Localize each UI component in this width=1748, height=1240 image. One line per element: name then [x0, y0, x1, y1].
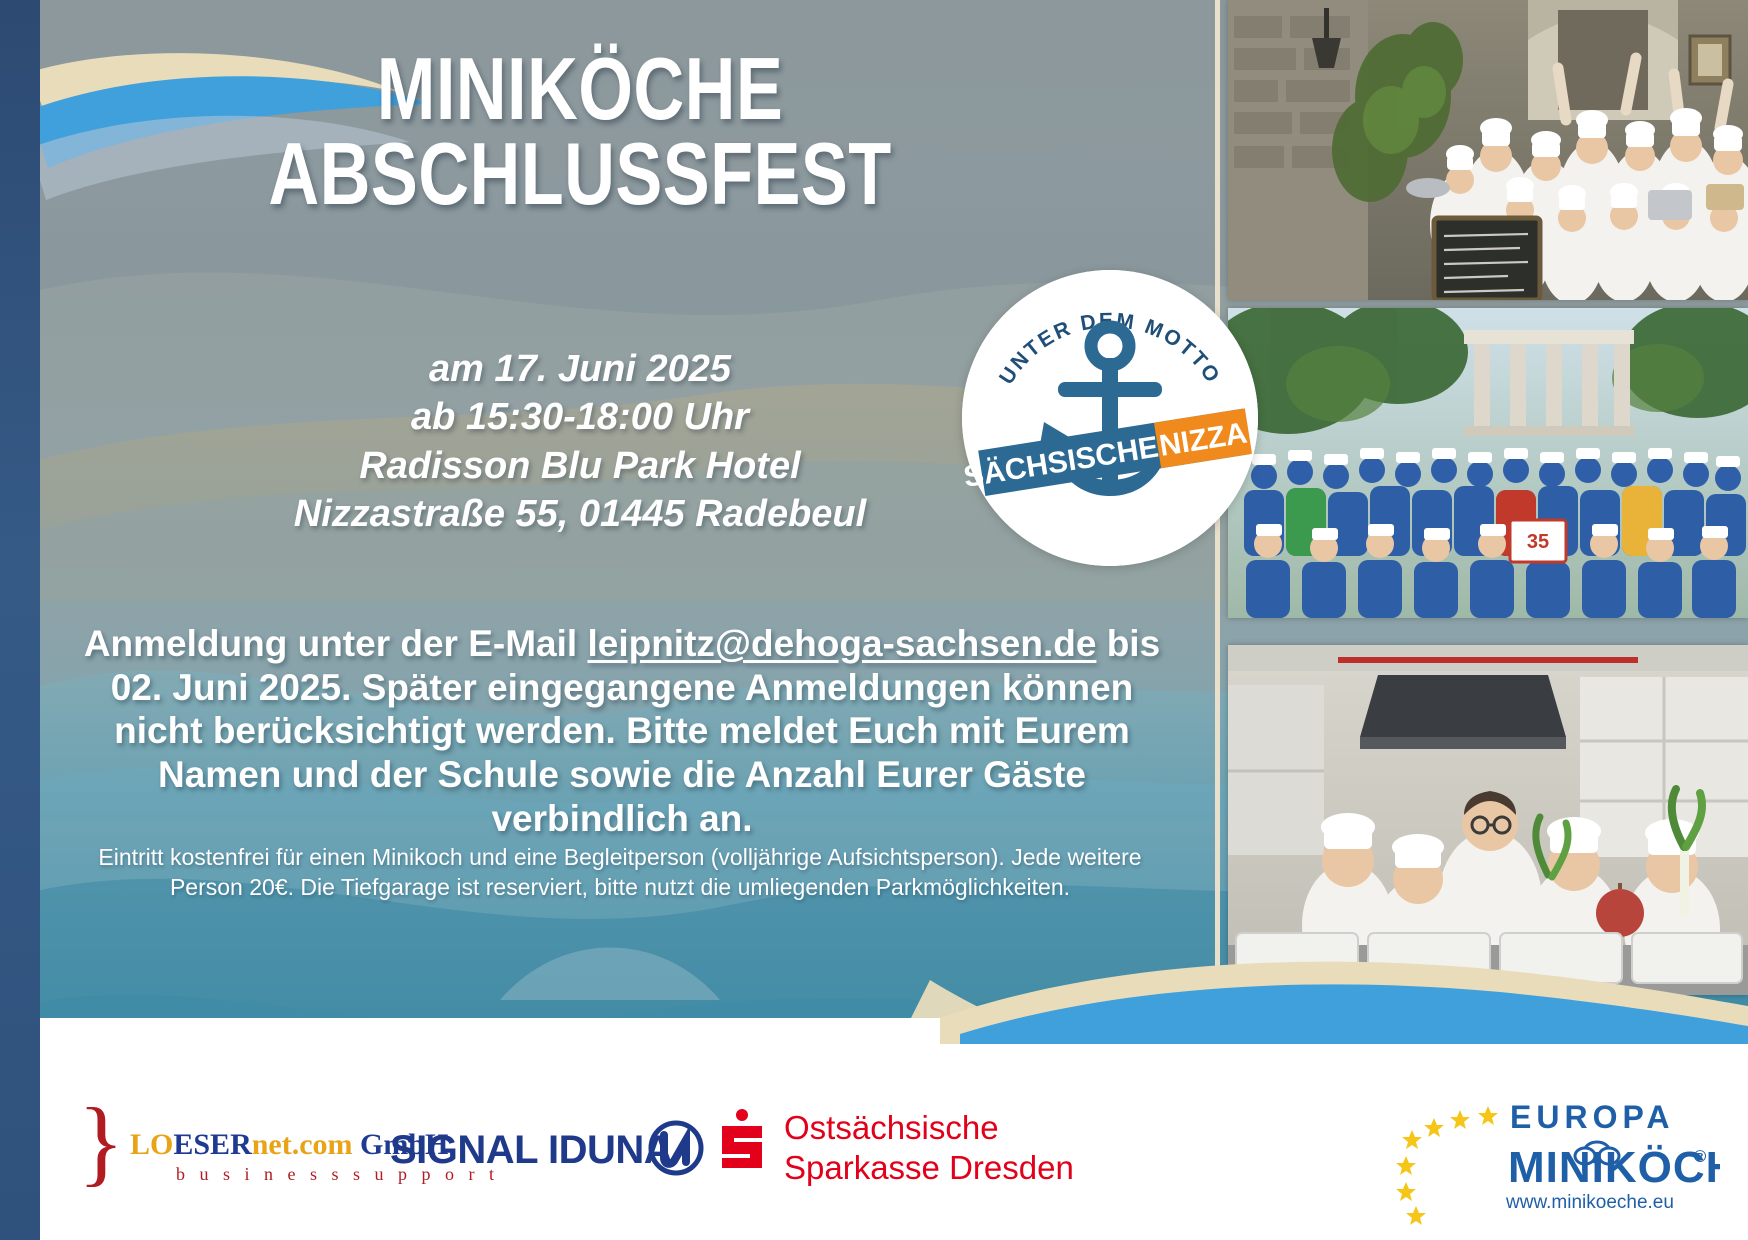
loeser-text-part2: ESER	[173, 1128, 251, 1161]
sponsor-logo-signal-iduna: SIGNAL IDUNA	[390, 1128, 672, 1173]
event-venue: Radisson Blu Park Hotel	[150, 442, 1010, 490]
headline-line-1: MINIKÖCHE	[236, 46, 924, 131]
europa-registered-mark: ®	[1694, 1147, 1707, 1166]
poster-root: 35	[0, 0, 1748, 1240]
headline-line-2: ABSCHLUSSFEST	[236, 131, 924, 216]
sparkasse-line-1: Ostsächsische	[784, 1108, 1074, 1148]
event-details: am 17. Juni 2025 ab 15:30-18:00 Uhr Radi…	[150, 345, 1010, 538]
loeser-text-part1: LO	[130, 1128, 173, 1161]
europa-url: www.minikoeche.eu	[1505, 1192, 1674, 1213]
europa-top-label: EUROPA	[1510, 1099, 1675, 1135]
photo-group-chefs-waving	[1228, 0, 1748, 300]
sponsor-logos: } LOESERnet.com GmbH b u s i n e s s s u…	[60, 1084, 1120, 1234]
sponsor-logo-europa-minikoeche: EUROPA MINIKÖCHE ® www.minikoeche.eu	[1390, 1096, 1720, 1226]
europa-main-label: MINIKÖCHE	[1508, 1143, 1720, 1192]
registration-before-email: Anmeldung unter der E-Mail	[84, 623, 588, 664]
eu-stars-icon	[1396, 1106, 1498, 1225]
event-date: am 17. Juni 2025	[150, 345, 1010, 393]
sponsor-bar-wave	[0, 948, 1748, 1058]
event-time: ab 15:30-18:00 Uhr	[150, 393, 1010, 441]
photo-kitchen-kids-vegetables	[1228, 645, 1748, 995]
signal-iduna-mark-icon	[648, 1120, 704, 1176]
registration-email[interactable]: leipnitz@dehoga-sachsen.de	[587, 623, 1096, 664]
sparkasse-s-icon	[718, 1108, 766, 1170]
poster-headline: MINIKÖCHE ABSCHLUSSFEST	[150, 46, 1010, 217]
fine-print: Eintritt kostenfrei für einen Minikoch u…	[95, 843, 1145, 903]
sponsor-bar: } LOESERnet.com GmbH b u s i n e s s s u…	[0, 1018, 1748, 1240]
event-address: Nizzastraße 55, 01445 Radebeul	[150, 490, 1010, 538]
left-accent-bar	[0, 0, 40, 1240]
signal-iduna-label: SIGNAL IDUNA	[390, 1128, 672, 1173]
sparkasse-line-2: Sparkasse Dresden	[784, 1148, 1074, 1188]
brace-icon: }	[78, 1094, 124, 1190]
photo-column: 35	[1228, 0, 1748, 1020]
svg-text:35: 35	[1527, 531, 1549, 553]
photo-large-group-outdoor: 35	[1228, 308, 1748, 618]
loeser-text-part3: net.com	[252, 1128, 353, 1161]
motto-badge: UNTER DEM MOTTO SÄCHSISCHES NIZZA	[962, 270, 1258, 566]
registration-paragraph: Anmeldung unter der E-Mail leipnitz@deho…	[62, 622, 1182, 840]
